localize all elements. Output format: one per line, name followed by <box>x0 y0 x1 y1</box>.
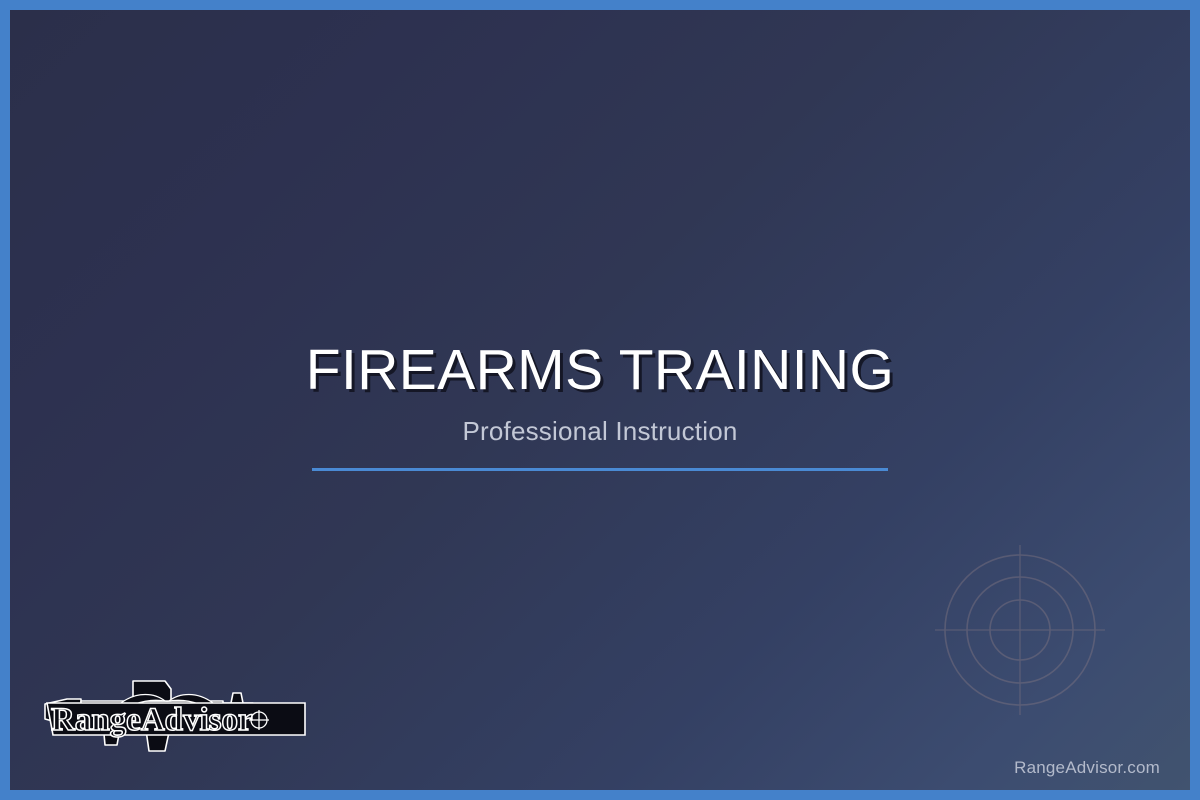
logo-wordmark: RangeAdvisor <box>51 702 253 738</box>
page-subtitle: Professional Instruction <box>10 416 1190 447</box>
target-reticle-icon <box>935 545 1105 715</box>
footer-url: RangeAdvisor.com <box>1014 758 1160 778</box>
title-block: FIREARMS TRAINING Professional Instructi… <box>10 342 1190 471</box>
slide-surface: FIREARMS TRAINING Professional Instructi… <box>10 10 1190 790</box>
page-title: FIREARMS TRAINING <box>10 342 1190 399</box>
brand-logo: RangeAdvisor <box>37 663 317 755</box>
slide-frame: FIREARMS TRAINING Professional Instructi… <box>0 0 1200 800</box>
title-accent-rule <box>312 468 888 471</box>
